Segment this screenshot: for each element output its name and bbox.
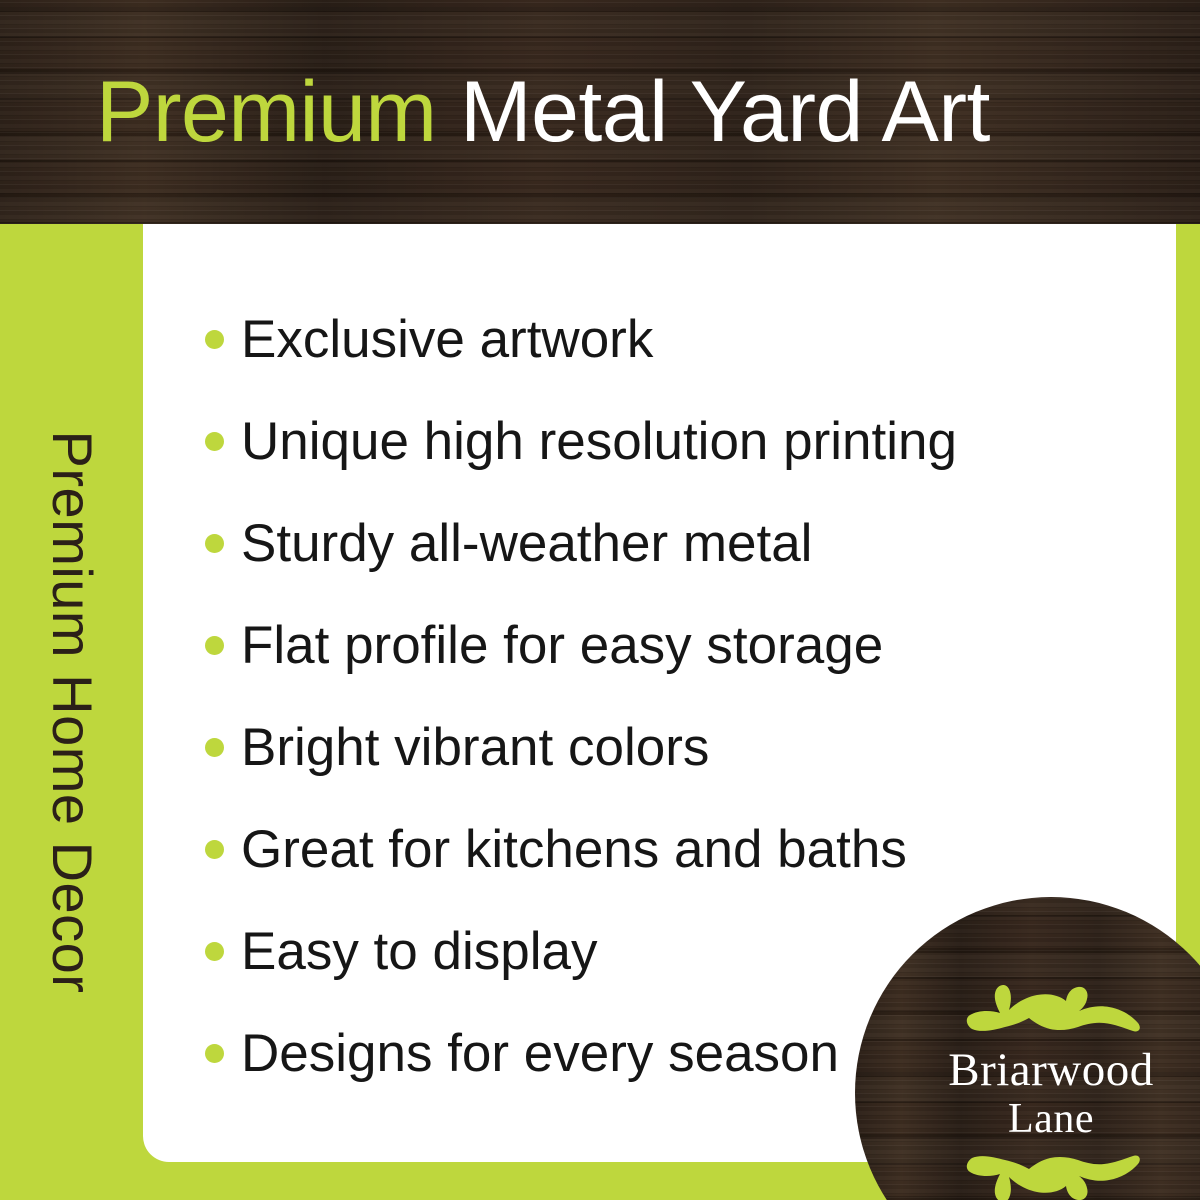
bullet-dot-icon [205,330,224,349]
page-title-accent: Premium [96,64,437,160]
page-title: Premium Metal Yard Art [96,69,990,155]
list-item: Great for kitchens and baths [205,798,1156,900]
feature-label: Bright vibrant colors [241,721,709,774]
bullet-dot-icon [205,432,224,451]
bullet-dot-icon [205,534,224,553]
list-item: Bright vibrant colors [205,696,1156,798]
brand-logo-inner: Briarwood Lane [855,897,1200,1200]
bullet-dot-icon [205,840,224,859]
list-item: Exclusive artwork [205,288,1156,390]
list-item: Sturdy all-weather metal [205,492,1156,594]
bullet-dot-icon [205,942,224,961]
brand-logo-badge: Briarwood Lane [855,897,1200,1200]
list-item: Unique high resolution printing [205,390,1156,492]
promo-poster: Premium Metal Yard Art Premium Home Deco… [0,0,1200,1200]
list-item: Flat profile for easy storage [205,594,1156,696]
page-title-plain: Metal Yard Art [437,64,990,160]
bullet-dot-icon [205,636,224,655]
feature-label: Exclusive artwork [241,313,653,366]
brand-name-sub: Lane [948,1098,1154,1140]
feature-label: Unique high resolution printing [241,415,957,468]
oak-leaf-icon [956,1154,1146,1200]
feature-label: Flat profile for easy storage [241,619,883,672]
brand-name-main: Briarwood [948,1047,1154,1094]
header-band: Premium Metal Yard Art [0,0,1200,224]
feature-label: Designs for every season [241,1027,839,1080]
brand-wordmark: Briarwood Lane [948,1047,1154,1140]
bullet-dot-icon [205,1044,224,1063]
sidebar-vertical-label: Premium Home Decor [44,431,100,994]
sidebar-rail: Premium Home Decor [0,224,143,1200]
feature-label: Great for kitchens and baths [241,823,907,876]
oak-leaf-icon [956,977,1146,1033]
bullet-dot-icon [205,738,224,757]
feature-label: Sturdy all-weather metal [241,517,812,570]
feature-label: Easy to display [241,925,597,978]
